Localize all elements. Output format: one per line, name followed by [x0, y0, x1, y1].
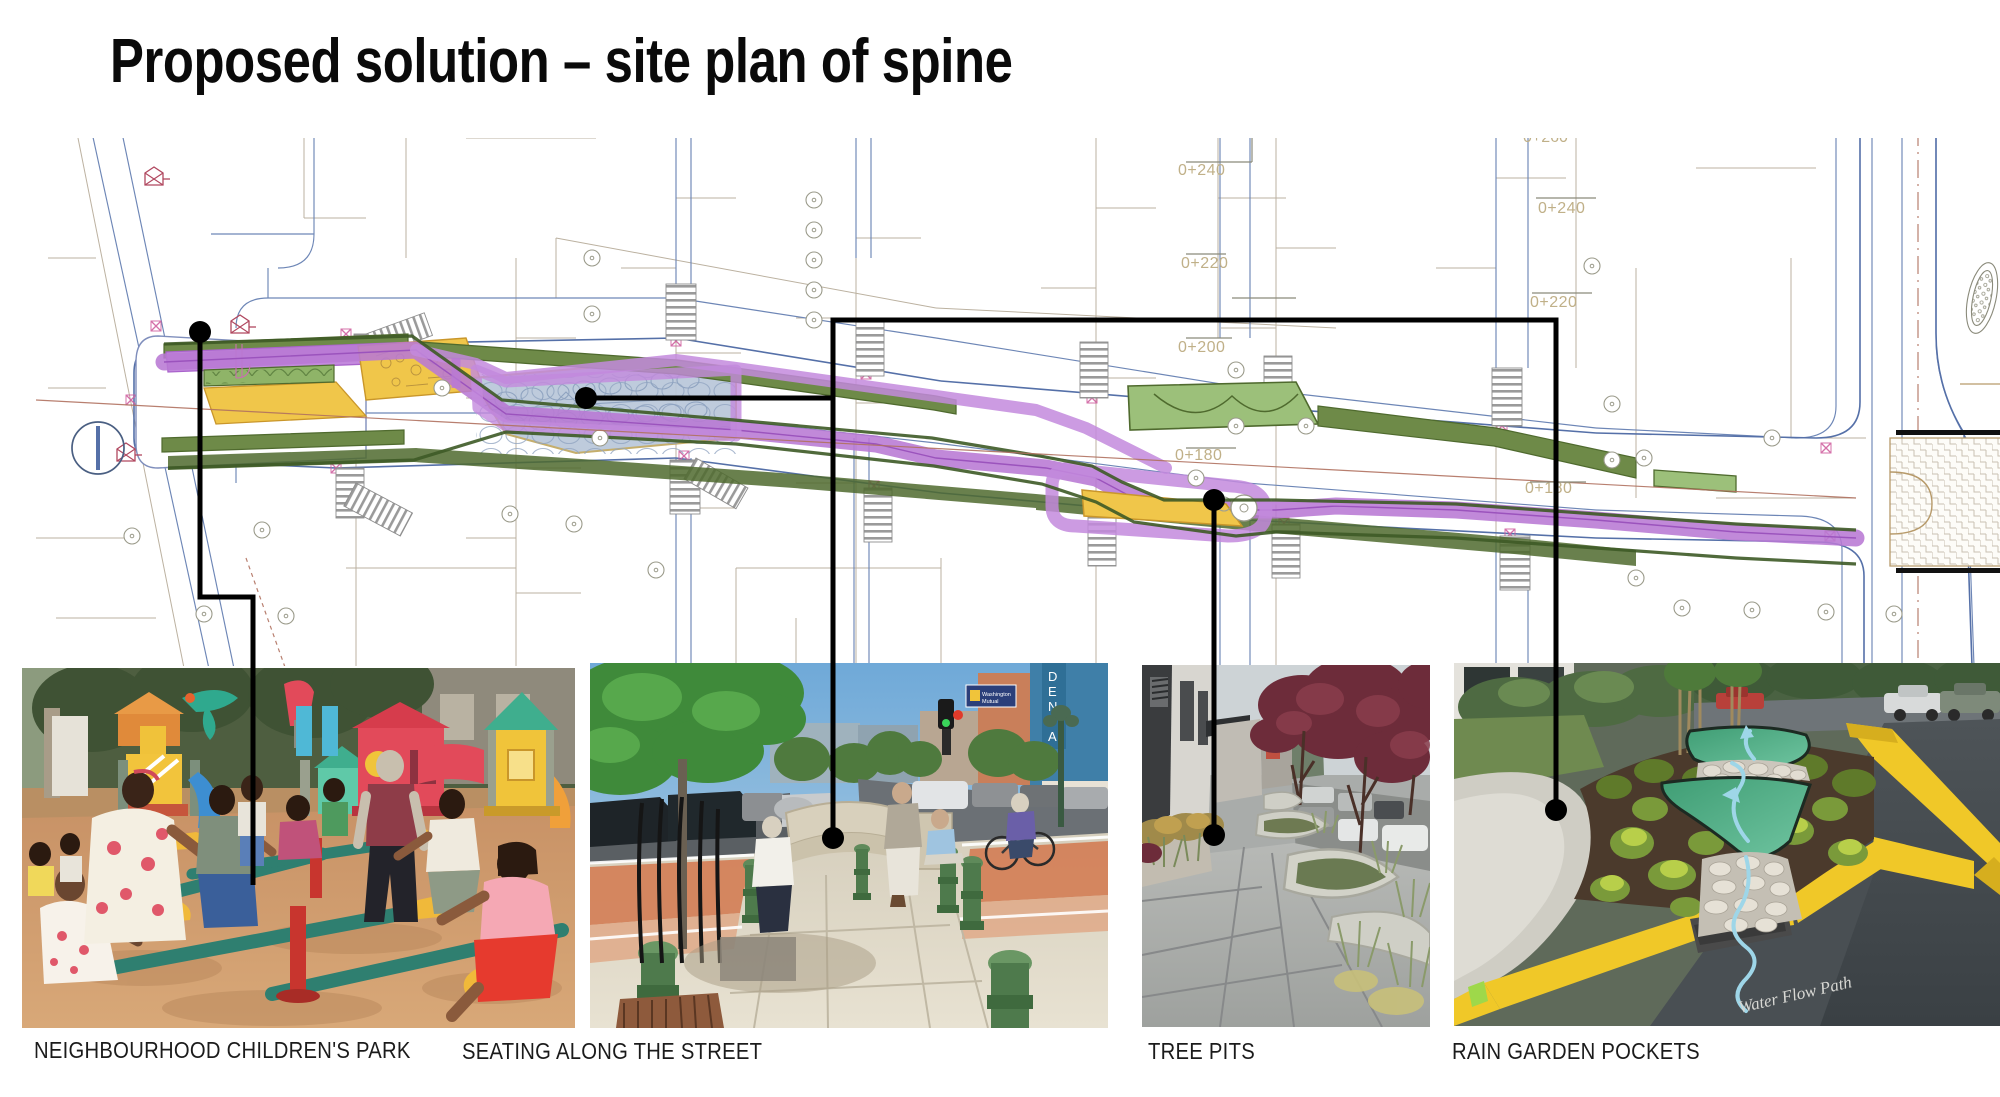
caption-tree-pits: TREE PITS [1148, 1038, 1255, 1065]
caption-rain-garden: RAIN GARDEN POCKETS [1452, 1038, 1700, 1065]
caption-seating: SEATING ALONG THE STREET [462, 1038, 762, 1065]
svg-text:Mutual: Mutual [982, 699, 999, 705]
station-labels-upper: 0+260 [1523, 138, 1568, 146]
site-plan-drawing: 0+260 0+240 0+240 0+220 0+220 0+200 0+18… [36, 138, 2000, 666]
station-label: 0+220 [1181, 255, 1228, 272]
station-label: 0+240 [1178, 162, 1225, 179]
station-label: 0+180 [1175, 447, 1222, 464]
photo-seating-along-street[interactable]: D E N T A L Washington Mutual [590, 663, 1108, 1028]
station-label: 0+220 [1530, 294, 1577, 311]
photo-childrens-park[interactable] [22, 668, 575, 1028]
station-label: 0+200 [1178, 339, 1225, 356]
caption-childrens-park: NEIGHBOURHOOD CHILDREN'S PARK [34, 1037, 411, 1064]
svg-text:Washington: Washington [982, 692, 1011, 698]
site-plan-panel[interactable]: 0+260 0+240 0+240 0+220 0+220 0+200 0+18… [36, 138, 2000, 666]
svg-text:E: E [1048, 684, 1057, 699]
page-title: Proposed solution – site plan of spine [110, 22, 1422, 102]
svg-text:0+260: 0+260 [1523, 138, 1568, 146]
svg-text:D: D [1048, 669, 1057, 684]
photo-rain-garden[interactable]: Water Flow Path [1454, 663, 2000, 1026]
svg-text:A: A [1048, 729, 1057, 744]
photo-tree-pits[interactable] [1142, 665, 1430, 1027]
station-label: 0+240 [1538, 200, 1585, 217]
